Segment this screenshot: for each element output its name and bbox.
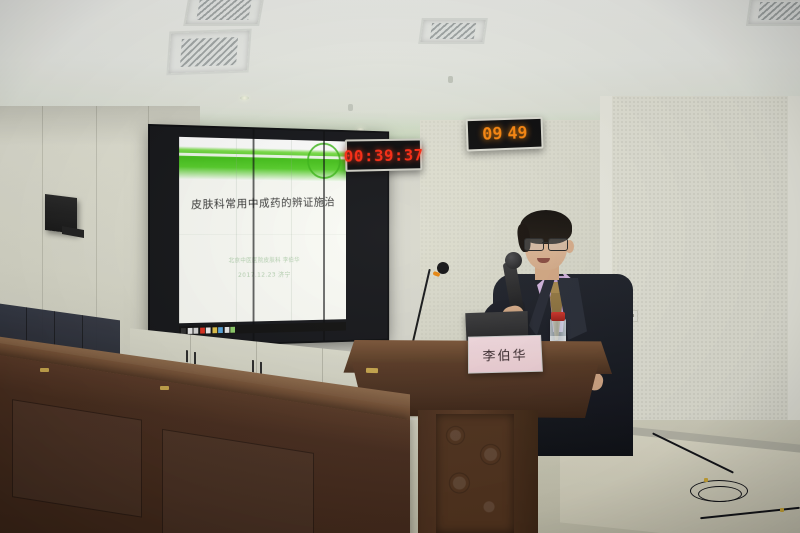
nameplate-text: 李伯华 <box>482 344 527 364</box>
ceiling-vent-icon <box>183 0 265 26</box>
cabinet-handle[interactable] <box>194 352 196 364</box>
app-icon[interactable] <box>212 327 217 333</box>
presentation-slide: 皮肤科常用中成药的辨证施治 北京中医医院皮肤科 李伯华 2017.12.23 济… <box>179 137 346 323</box>
bottle-cap <box>551 312 565 321</box>
app-icon[interactable] <box>187 327 192 333</box>
brass-plate <box>366 368 378 373</box>
cabinet-handle[interactable] <box>186 350 188 362</box>
cabinet-handle[interactable] <box>252 360 254 372</box>
ceiling-vent-icon <box>418 18 488 44</box>
coiled-cable <box>698 486 742 502</box>
app-icon[interactable] <box>193 327 198 333</box>
slide-title: 皮肤科常用中成药的辨证施治 <box>179 194 346 213</box>
sprinkler-icon <box>348 104 353 111</box>
cable-clip <box>780 508 784 512</box>
app-icon[interactable] <box>218 327 223 333</box>
clock-minutes: 49 <box>507 123 528 144</box>
cabinet-handle[interactable] <box>260 362 262 374</box>
slide-date: 2017.12.23 济宁 <box>179 269 346 281</box>
downlight-icon <box>240 96 249 100</box>
app-icon[interactable] <box>200 327 205 333</box>
screen-mullion <box>323 131 325 340</box>
clock-hours: 09 <box>482 124 503 145</box>
cable-clip <box>704 478 708 482</box>
slide-subtitle: 北京中医医院皮肤科 李伯华 <box>179 255 346 265</box>
app-icon[interactable] <box>230 326 235 332</box>
ceiling-vent-icon <box>746 0 800 26</box>
podium-carved-panel <box>436 414 514 533</box>
countdown-timer: 00:39:37 <box>345 139 422 172</box>
brass-plate <box>160 386 169 390</box>
nameplate: 李伯华 <box>468 335 543 374</box>
app-icon[interactable] <box>224 326 229 332</box>
app-icon[interactable] <box>206 327 211 333</box>
brass-plate <box>40 368 49 372</box>
countdown-timer-value: 00:39:37 <box>343 145 423 165</box>
eyeglasses-icon <box>524 238 570 250</box>
digital-wall-clock: 09 49 <box>466 117 544 152</box>
ceiling-vent-icon <box>166 29 251 76</box>
screen-mullion <box>253 129 255 343</box>
sprinkler-icon <box>448 76 453 83</box>
screenshot-root: 皮肤科常用中成药的辨证施治 北京中医医院皮肤科 李伯华 2017.12.23 济… <box>0 0 800 533</box>
microphone-head-icon <box>505 252 522 269</box>
